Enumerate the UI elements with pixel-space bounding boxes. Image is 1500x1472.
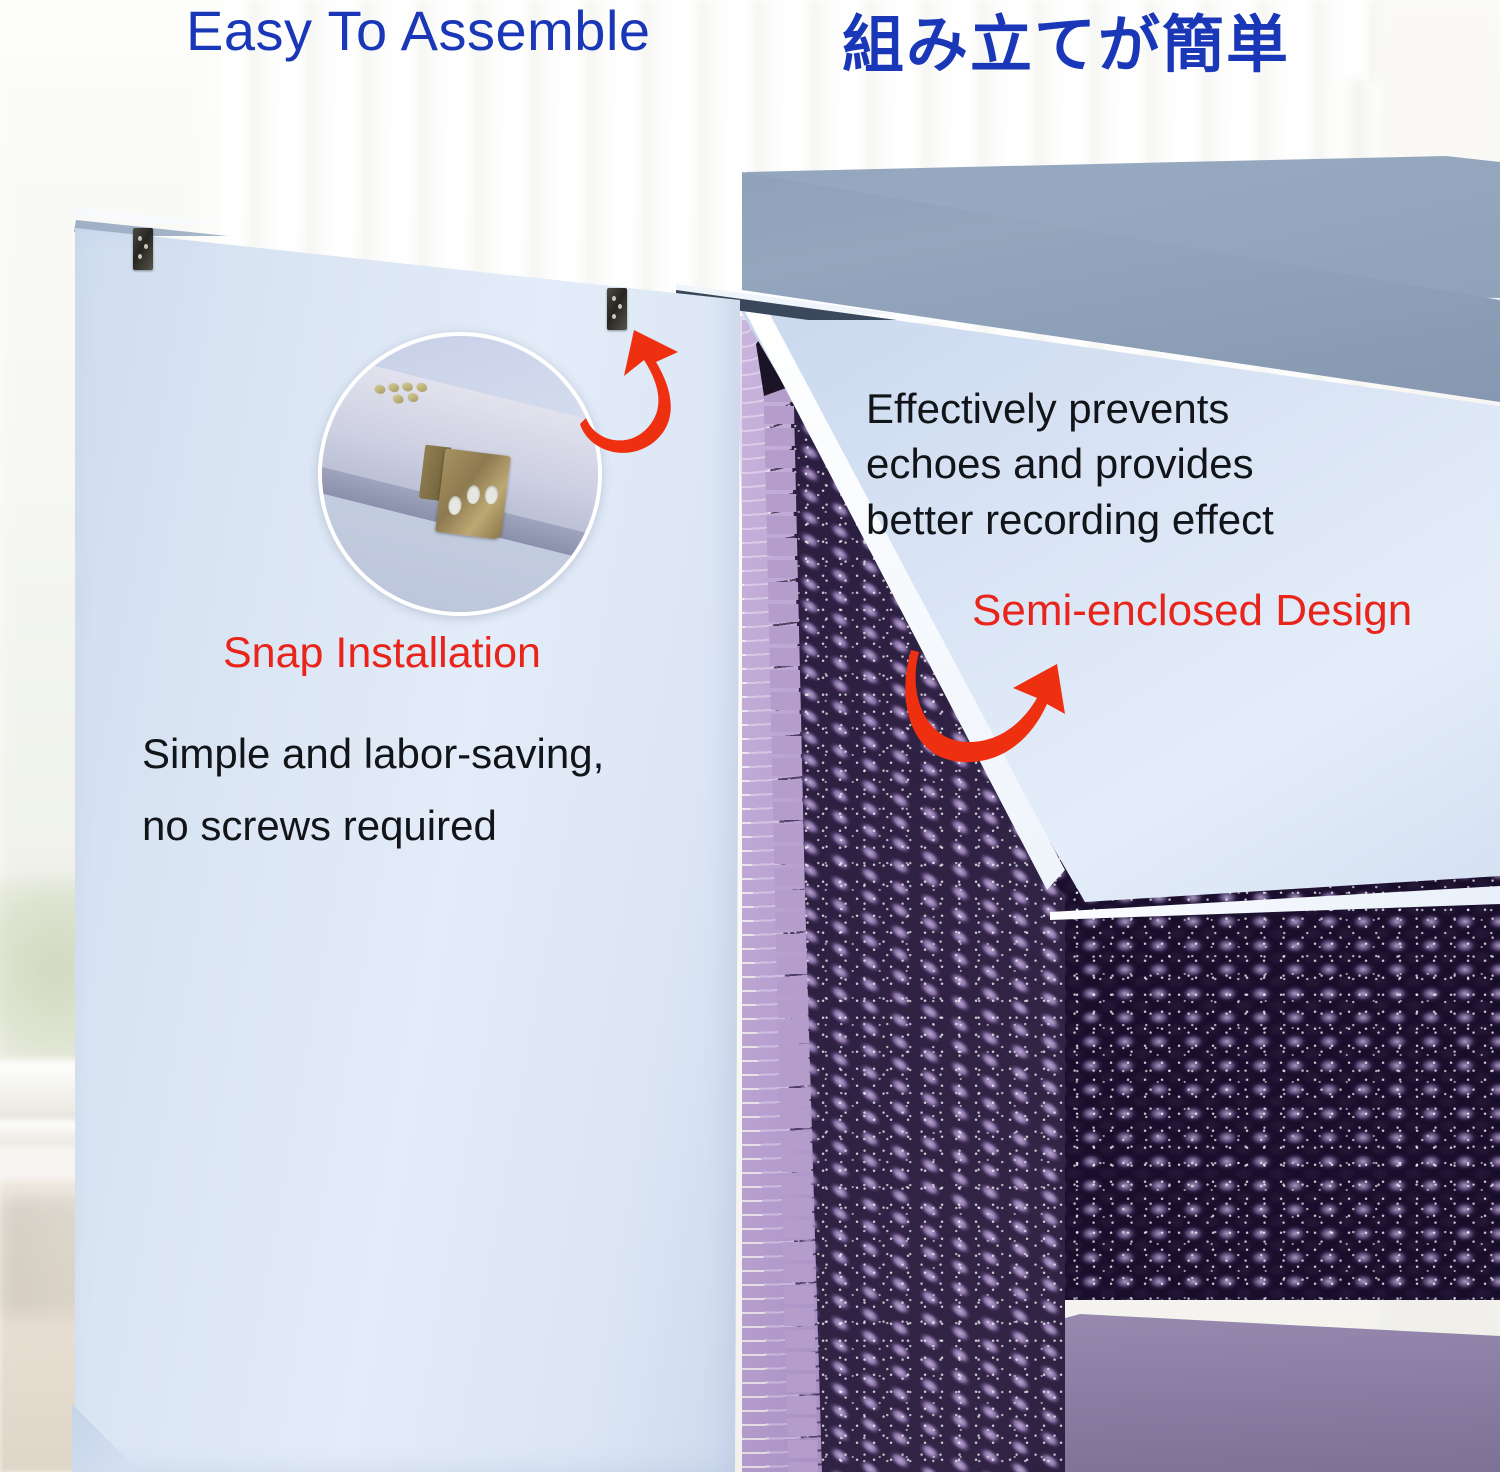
snap-hinge-bracket-left xyxy=(133,228,153,270)
callout-snap-installation-body: Simple and labor-saving, no screws requi… xyxy=(142,718,762,862)
acoustic-body-line-3: better recording effect xyxy=(866,492,1486,547)
callout-acoustic-body: Effectively prevents echoes and provides… xyxy=(866,381,1486,547)
curved-arrow-to-hinge-icon xyxy=(560,300,760,500)
curved-arrow-to-opening-icon xyxy=(905,610,1105,790)
callout-semi-enclosed-title: Semi-enclosed Design xyxy=(972,586,1412,636)
inset-snap-bracket xyxy=(435,448,511,539)
acoustic-body-line-2: echoes and provides xyxy=(866,436,1486,491)
acoustic-body-line-1: Effectively prevents xyxy=(866,381,1486,436)
header-title-en: Easy To Assemble xyxy=(186,0,651,63)
product-marketing-image: Easy To Assemble 組み立てが簡単 Snap Installati… xyxy=(0,0,1500,1472)
snap-body-line-2: no screws required xyxy=(142,790,762,862)
callout-snap-installation-title: Snap Installation xyxy=(223,629,541,678)
header-title-jp: 組み立てが簡単 xyxy=(842,0,1290,84)
snap-body-line-1: Simple and labor-saving, xyxy=(142,718,762,790)
